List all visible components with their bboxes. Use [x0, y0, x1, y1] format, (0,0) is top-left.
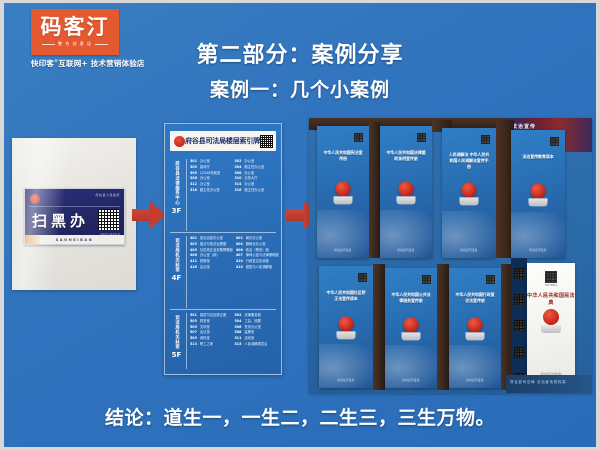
brochure-banner: 中华人民共和国行政复议法宣传册 府谷县司法局: [449, 268, 501, 388]
room-name: 办公室: [200, 176, 210, 180]
room-name: 基层与人民调解股: [246, 265, 272, 269]
room-name: 办公室（综）: [200, 253, 220, 257]
shelf-gap: [373, 264, 385, 390]
shelf-bottom-text: 府谷县司法局 法治宣传资料架: [510, 380, 566, 385]
floor-number: 3F: [172, 207, 182, 215]
floor-room-columns: 501基层与社区矫正股 503财务室 505文印室 507会议室 509资料室 …: [190, 313, 276, 369]
qr-code-icon: [514, 268, 525, 279]
national-emblem-icon: [337, 316, 356, 339]
floor-number: 5F: [172, 351, 182, 359]
floor-section-5f: 司法局机关科室 5F 501基层与社区矫正股 503财务室 505文印室 507…: [170, 313, 276, 369]
room-entry: 503财务室: [190, 319, 232, 323]
room-number: 310: [235, 176, 242, 180]
qr-code-icon: [422, 275, 431, 284]
room-name: 行政复议应诉股: [246, 259, 269, 263]
qr-code-icon: [550, 137, 559, 146]
qr-code-icon: [545, 271, 557, 283]
qr-code-icon: [98, 209, 119, 230]
room-column-left: 501基层与社区矫正股 503财务室 505文印室 507会议室 509资料室 …: [190, 313, 232, 369]
national-emblem-icon: [174, 136, 185, 147]
poster-header-title: 府谷县司法局楼层索引牌: [185, 136, 260, 146]
room-number: 503: [190, 319, 197, 323]
national-emblem-icon: [529, 183, 548, 206]
national-emblem-icon: [466, 317, 485, 340]
room-entry: 308办公室: [235, 171, 277, 175]
floor-separator: [170, 309, 276, 310]
banner-title: 中华人民共和国社区矫正法宣传读本: [325, 290, 367, 302]
poster-qr-caption: 扫码了解更多: [527, 284, 575, 287]
room-name: 活动室: [244, 336, 254, 340]
room-name: 副主任办公室: [200, 188, 220, 192]
banner-footer: 府谷县司法局: [511, 248, 565, 252]
banner-footer: 府谷县司法局: [442, 248, 496, 252]
room-number: 511: [235, 336, 242, 340]
shelf-bottom-panel: 府谷县司法局 法治宣传资料架: [506, 375, 592, 393]
room-name: 档案室: [200, 259, 210, 263]
room-name: 政治（警务）股: [246, 248, 269, 252]
room-number: 401: [190, 236, 197, 240]
floor-separator: [170, 232, 276, 233]
room-name: 办公室: [200, 182, 210, 186]
brochure-banner: 中华人民共和国宪法宣传册 府谷县司法局: [317, 126, 369, 258]
civil-code-poster: 扫码了解更多 中华人民共和国民法典 府谷县司法局印制: [527, 263, 575, 383]
room-entry: 515人民调解委员会: [235, 342, 277, 346]
room-entry: 303接待厅: [190, 165, 232, 169]
floor-label-4f: 司法局机关科室 4F: [170, 236, 183, 308]
room-number: 508: [235, 330, 242, 334]
room-name: 党务办公室: [244, 325, 260, 329]
qr-code-icon: [358, 273, 367, 282]
room-number: 301: [190, 159, 197, 163]
slide-conclusion: 结论：道生一，一生二，二生三，三生万物。: [4, 403, 596, 430]
photo-brochure-display: 法治宣传 中华人民共和国宪法宣传册 府谷县司法局 中华人民共和国法律援助条例宣传…: [309, 118, 592, 393]
brochure-banner: 法治宣传教育读本 府谷县司法局: [511, 130, 565, 258]
room-name: 12348热线室: [200, 171, 220, 175]
brochure-banner: 中华人民共和国社区矫正法宣传读本 府谷县司法局: [319, 266, 373, 388]
room-number: 407: [236, 253, 243, 257]
qr-code-icon: [481, 135, 490, 144]
room-name: 普法与依法治理股: [200, 242, 226, 246]
room-entry: 410行政复议应诉股: [236, 259, 279, 263]
room-entry: 312办公室: [190, 182, 232, 186]
banner-title: 法治宣传教育读本: [517, 154, 559, 160]
qr-code-icon: [514, 320, 525, 331]
floor-room-columns: 301办公室 303接待厅 30512348热线室 306办公室 312办公室 …: [190, 159, 276, 231]
room-entry: 407律师公证与法律援助股: [236, 253, 279, 257]
room-entry: 513职工之家: [190, 342, 232, 346]
banner-footer: 府谷县司法局: [449, 378, 501, 382]
shelf-gap: [369, 122, 380, 258]
floor-label-5f: 司法局机关科室 5F: [170, 313, 183, 369]
floor-number: 4F: [172, 274, 182, 282]
banner-title: 中华人民共和国法律援助条例宣传册: [386, 150, 426, 162]
room-name: 副主任办公室: [244, 188, 264, 192]
national-emblem-icon: [397, 181, 416, 204]
room-number: 414: [236, 265, 243, 269]
room-entry: 501基层与社区矫正股: [190, 313, 232, 317]
room-number: 402: [236, 236, 243, 240]
room-number: 502: [235, 313, 242, 317]
room-entry: 506党务办公室: [235, 325, 277, 329]
room-entry: 505文印室: [190, 325, 232, 329]
floor-name: 府谷县法律服务中心: [174, 161, 180, 205]
room-entry: 507会议室: [190, 330, 232, 334]
room-entry: 403普法与依法治理股: [190, 242, 233, 246]
arrow-shaft: [286, 209, 306, 221]
qr-code-icon: [514, 347, 525, 358]
qr-code-icon: [260, 135, 273, 148]
sign-pinyin: SAOHEIBAN: [56, 238, 94, 242]
floor-section-3f: 府谷县法律服务中心 3F 301办公室 303接待厅 30512348热线室 3…: [170, 159, 276, 231]
room-name: 社区矫正及安置帮教股: [200, 248, 233, 252]
room-entry: 316副主任办公室: [190, 188, 232, 192]
floor-section-4f: 司法局机关科室 4F 401依法治县办公室 403普法与依法治理股 405社区矫…: [170, 236, 276, 308]
qr-code-icon: [514, 294, 525, 305]
room-number: 410: [236, 259, 243, 263]
floor-divider: [186, 313, 187, 369]
room-entry: 30512348热线室: [190, 171, 232, 175]
banner-title: 人民调解法 中华人民共和国人民调解法宣传手册: [448, 152, 490, 170]
slide-title: 第二部分：案例分享: [4, 37, 596, 69]
room-name: 资料室: [200, 336, 210, 340]
room-number: 412: [190, 259, 197, 263]
floor-name: 司法局机关科室: [174, 238, 180, 272]
room-entry: 502法律服务股: [235, 313, 277, 317]
room-number: 507: [190, 330, 197, 334]
room-column-right: 402局长办公室 404副局长办公室 406政治（警务）股 407律师公证与法律…: [236, 236, 279, 308]
room-name: 局长办公室: [246, 236, 262, 240]
room-entry: 301办公室: [190, 159, 232, 163]
room-entry: 405社区矫正及安置帮教股: [190, 248, 233, 252]
floor-directory-poster: 府谷县司法局楼层索引牌 府谷县法律服务中心 3F 301办公室 303接待厅 3…: [164, 123, 282, 375]
room-number: 416: [190, 265, 197, 269]
floor-name: 司法局机关科室: [174, 315, 180, 349]
room-name: 接待厅: [200, 165, 210, 169]
room-name: 依法治县办公室: [200, 236, 223, 240]
floor-room-columns: 401依法治县办公室 403普法与依法治理股 405社区矫正及安置帮教股 408…: [190, 236, 279, 308]
room-entry: 414基层与人民调解股: [236, 265, 279, 269]
room-column-right: 302办公室 304副主任办公室 308办公室 310业务大厅 314办公室 3…: [235, 159, 277, 231]
room-number: 305: [190, 171, 197, 175]
photo-sign-on-wall: 府谷县人民政府 扫黑办 扫码关注更多信息 SAOHEIBAN: [12, 138, 136, 290]
national-emblem-icon: [460, 182, 479, 205]
floor-divider: [186, 236, 187, 308]
national-emblem-icon: [334, 181, 353, 204]
banner-title: 中华人民共和国行政复议法宣传册: [455, 292, 495, 304]
room-name: 办公室: [200, 159, 210, 163]
room-name: 办公室: [244, 171, 254, 175]
room-name: 律师公证与法律援助股: [246, 253, 279, 257]
room-name: 副局长办公室: [246, 242, 266, 246]
room-name: 文印室: [200, 325, 210, 329]
room-number: 405: [190, 248, 197, 252]
qr-code-icon: [417, 133, 426, 142]
room-entry: 304副主任办公室: [235, 165, 277, 169]
shelf-gap: [437, 264, 449, 390]
room-number: 308: [235, 171, 242, 175]
banner-title: 中华人民共和国宪法宣传册: [323, 150, 363, 162]
banner-footer: 府谷县司法局: [385, 378, 437, 382]
room-number: 404: [236, 242, 243, 246]
room-entry: 508监察室: [235, 330, 277, 334]
qr-code-icon: [486, 275, 495, 284]
poster-header: 府谷县司法局楼层索引牌: [170, 131, 276, 151]
room-name: 工会、团委: [244, 319, 260, 323]
room-entry: 306办公室: [190, 176, 232, 180]
banner-title: 中华人民共和国公共法律服务宣传册: [391, 292, 431, 304]
arrow-shaft: [132, 209, 152, 221]
room-number: 304: [235, 165, 242, 169]
room-name: 财务室: [200, 319, 210, 323]
national-emblem-icon: [402, 317, 421, 340]
room-column-left: 401依法治县办公室 403普法与依法治理股 405社区矫正及安置帮教股 408…: [190, 236, 233, 308]
room-entry: 504工会、团委: [235, 319, 277, 323]
room-name: 会议室: [200, 330, 210, 334]
sign-org-label: 府谷县人民政府: [95, 193, 120, 197]
room-column-right: 502法律服务股 504工会、团委 506党务办公室 508监察室 511活动室…: [235, 313, 277, 369]
room-number: 316: [190, 188, 197, 192]
room-number: 509: [190, 336, 197, 340]
room-name: 法律服务股: [244, 313, 260, 317]
room-entry: 406政治（警务）股: [236, 248, 279, 252]
banner-footer: 府谷县司法局: [319, 378, 373, 382]
room-number: 306: [190, 176, 197, 180]
room-name: 副主任办公室: [244, 165, 264, 169]
room-name: 办公室: [244, 159, 254, 163]
presentation-slide: 码客汀 整 合 创 意 店 快印客®互联网+ 技术营销体验店 第二部分：案例分享…: [4, 3, 596, 447]
room-number: 513: [190, 342, 197, 346]
brochure-banner: 中华人民共和国法律援助条例宣传册 府谷县司法局: [380, 126, 432, 258]
slide-subtitle: 案例一：几个小案例: [4, 75, 596, 102]
room-name: 人民调解委员会: [244, 342, 267, 346]
room-entry: 310业务大厅: [235, 176, 277, 180]
room-number: 505: [190, 325, 197, 329]
room-number: 501: [190, 313, 197, 317]
logo-brand-name: 码客汀: [41, 17, 110, 38]
qr-code-strip: [511, 258, 527, 393]
room-number: 504: [235, 319, 242, 323]
floor-label-3f: 府谷县法律服务中心 3F: [170, 159, 183, 231]
national-emblem-icon: [541, 309, 561, 333]
room-name: 会议室: [200, 265, 210, 269]
floor-divider: [186, 159, 187, 231]
room-entry: 416会议室: [190, 265, 233, 269]
red-arrow-right-icon: [132, 201, 166, 229]
room-name: 职工之家: [200, 342, 213, 346]
room-entry: 402局长办公室: [236, 236, 279, 240]
room-number: 403: [190, 242, 197, 246]
room-number: 515: [235, 342, 242, 346]
room-entry: 408办公室（综）: [190, 253, 233, 257]
room-column-left: 301办公室 303接待厅 30512348热线室 306办公室 312办公室 …: [190, 159, 232, 231]
room-entry: 511活动室: [235, 336, 277, 340]
room-name: 业务大厅: [244, 176, 257, 180]
room-entry: 314办公室: [235, 182, 277, 186]
room-name: 监察室: [244, 330, 254, 334]
brochure-banner: 人民调解法 中华人民共和国人民调解法宣传手册 府谷县司法局: [442, 128, 496, 258]
shelf-gap: [501, 264, 511, 390]
room-number: 406: [236, 248, 243, 252]
banner-footer: 府谷县司法局: [380, 248, 432, 252]
room-entry: 404副局长办公室: [236, 242, 279, 246]
brochure-banner: 中华人民共和国公共法律服务宣传册 府谷县司法局: [385, 268, 437, 388]
room-number: 318: [235, 188, 242, 192]
qr-code-icon: [354, 133, 363, 142]
room-number: 312: [190, 182, 197, 186]
room-number: 408: [190, 253, 197, 257]
room-entry: 412档案室: [190, 259, 233, 263]
banner-footer: 府谷县司法局: [317, 248, 369, 252]
room-name: 办公室: [244, 182, 254, 186]
room-entry: 318副主任办公室: [235, 188, 277, 192]
civil-code-title: 中华人民共和国民法典: [527, 292, 575, 306]
room-number: 303: [190, 165, 197, 169]
room-entry: 302办公室: [235, 159, 277, 163]
room-number: 506: [235, 325, 242, 329]
room-number: 314: [235, 182, 242, 186]
shelf-top-text: 法治宣传: [512, 123, 536, 130]
room-entry: 401依法治县办公室: [190, 236, 233, 240]
room-entry: 509资料室: [190, 336, 232, 340]
room-name: 基层与社区矫正股: [200, 313, 226, 317]
room-number: 302: [235, 159, 242, 163]
